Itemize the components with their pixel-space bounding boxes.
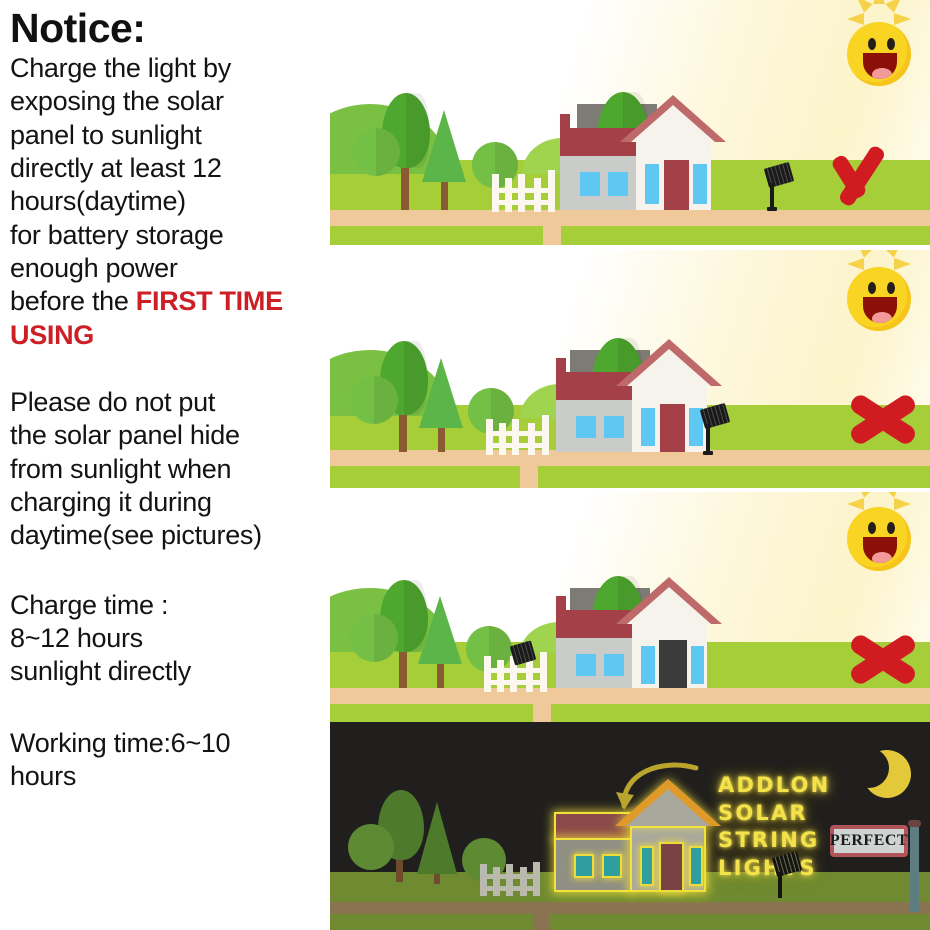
house	[480, 584, 640, 690]
smiling-sun-icon	[830, 250, 928, 348]
brand-line: ADDLON	[718, 772, 830, 800]
glowing-door	[659, 842, 684, 892]
spacer	[8, 689, 324, 727]
house	[484, 100, 644, 210]
text-line: for battery storage	[10, 219, 324, 252]
solar-lamp-outdoor	[762, 165, 796, 211]
sign-board: PERFECT	[830, 825, 908, 857]
window	[641, 646, 655, 684]
text-line: hours	[10, 760, 324, 793]
spacer	[8, 553, 324, 589]
brand-line: SOLAR	[718, 800, 830, 828]
panel-correct	[330, 0, 930, 245]
text-line: Working time:6~10	[10, 727, 324, 760]
text-line: hours(daytime)	[10, 185, 324, 218]
text-line: Charge time :	[10, 589, 324, 622]
paragraph-charge-time: Charge time : 8~12 hours sunlight direct…	[10, 589, 324, 689]
text-line: charging it during	[10, 486, 324, 519]
panel-wrong-shade	[330, 250, 930, 488]
brand-line: STRING	[718, 827, 830, 855]
solar-lamp-in-shadow	[698, 406, 732, 454]
paragraph-do-not-hide: Please do not put the solar panel hide f…	[10, 386, 324, 553]
cross-mark-icon	[843, 388, 923, 454]
path-band	[330, 210, 930, 226]
text-line: daytime(see pictures)	[10, 519, 324, 552]
page-title: Notice:	[10, 8, 324, 50]
grass-band-bottom	[330, 466, 930, 488]
pine-tree	[419, 358, 463, 428]
window	[691, 646, 704, 684]
doorway-dark	[659, 640, 687, 688]
window	[608, 172, 628, 196]
pine-tree	[422, 110, 466, 182]
text-line: sunlight directly	[10, 655, 324, 688]
curved-arrow-icon	[612, 754, 702, 814]
smiling-sun-icon	[830, 492, 928, 588]
text-line: Please do not put	[10, 386, 324, 419]
perfect-sign: PERFECT	[830, 820, 930, 920]
door	[660, 404, 685, 452]
text-line: 8~12 hours	[10, 622, 324, 655]
window	[576, 654, 596, 676]
text-line: Charge the light by	[10, 52, 324, 85]
sign-pole-cap	[908, 820, 921, 827]
paragraph-charge-instructions: Charge the light by exposing the solar p…	[10, 52, 324, 352]
night-path-walkway	[533, 914, 549, 930]
sign-pole	[910, 826, 919, 912]
pine-tree	[418, 596, 462, 664]
window	[693, 164, 707, 204]
window	[641, 408, 655, 446]
crescent-moon-icon	[863, 750, 911, 798]
spacer	[8, 352, 324, 386]
glowing-window	[574, 854, 594, 878]
window	[645, 164, 659, 204]
sign-label: PERFECT	[830, 832, 908, 850]
glowing-window	[602, 854, 622, 878]
glowing-window	[689, 846, 703, 886]
text-line: exposing the solar	[10, 85, 324, 118]
path-walkway	[543, 226, 561, 245]
night-pine-tree	[417, 802, 457, 874]
instructions-text-column: Notice: Charge the light by exposing the…	[0, 0, 330, 930]
text-line: panel to sunlight	[10, 119, 324, 152]
window	[580, 172, 600, 196]
path-walkway	[533, 704, 551, 722]
grass-band-bottom	[330, 704, 930, 722]
house	[480, 346, 640, 454]
window	[604, 654, 624, 676]
panel-wrong-indoor	[330, 492, 930, 722]
illustration-column: ADDLON SOLAR STRING LIGHTS PERFECT	[330, 0, 930, 930]
text-line-with-highlight: before the FIRST TIME USING	[10, 285, 324, 352]
text-line: enough power	[10, 252, 324, 285]
smiling-sun-icon	[830, 5, 928, 103]
text-line: from sunlight when	[10, 453, 324, 486]
paragraph-working-time: Working time:6~10 hours	[10, 727, 324, 794]
check-mark-icon	[829, 138, 929, 210]
path-band	[330, 688, 930, 704]
grass-band-bottom	[330, 226, 930, 245]
solar-lamp-night	[770, 854, 804, 896]
window	[604, 416, 624, 438]
solar-lamp-indoor	[510, 643, 540, 673]
panel-night-result: ADDLON SOLAR STRING LIGHTS PERFECT	[330, 722, 930, 930]
text-line: the solar panel hide	[10, 419, 324, 452]
path-walkway	[520, 466, 538, 488]
notice-infographic: Notice: Charge the light by exposing the…	[0, 0, 930, 930]
glowing-window	[640, 846, 654, 886]
door	[664, 160, 689, 210]
window	[576, 416, 596, 438]
text-line: directly at least 12	[10, 152, 324, 185]
night-tree-round	[348, 824, 394, 870]
cross-mark-icon	[843, 628, 923, 694]
text-prefix: before the	[10, 286, 136, 316]
